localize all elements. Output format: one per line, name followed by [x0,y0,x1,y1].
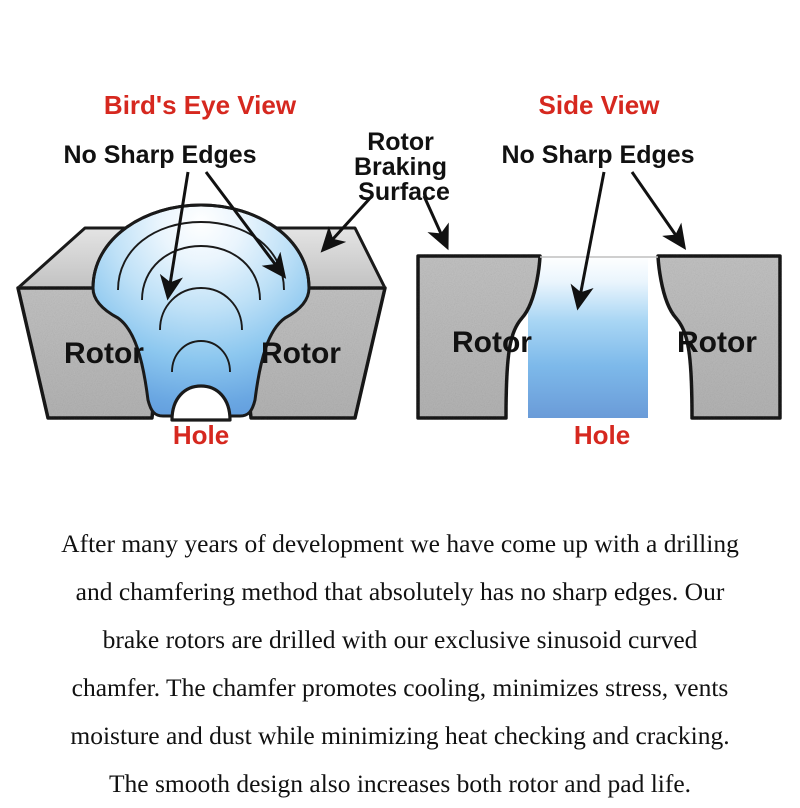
rbs-line-2: Braking [354,153,447,181]
no-sharp-edges-label-right: No Sharp Edges [501,141,694,169]
description-line-4: chamfer. The chamfer promotes cooling, m… [8,664,792,712]
side-view-title: Side View [539,90,661,120]
rotor-chamfer-illustration: Bird's Eye View No Sharp Edges Rotor Bra… [0,0,800,480]
rotor-braking-surface-label: Rotor Braking Surface [354,128,454,206]
description-paragraph: After many years of development we have … [0,520,800,808]
rotor-label-right-right: Rotor [677,326,757,359]
description-line-3: brake rotors are drilled with our exclus… [8,616,792,664]
rotor-label-left-far: Rotor [261,337,341,370]
hole-label-left: Hole [173,420,229,450]
bird-eye-view-group: Bird's Eye View No Sharp Edges Rotor Bra… [18,90,454,450]
rbs-line-1: Rotor [367,128,434,156]
rbs-line-3: Surface [358,178,450,206]
description-line-2: and chamfering method that absolutely ha… [8,568,792,616]
diagram-page: Bird's Eye View No Sharp Edges Rotor Bra… [0,0,800,800]
no-sharp-edges-label-left: No Sharp Edges [63,141,256,169]
rotor-label-right-left: Rotor [452,326,532,359]
description-line-5: moisture and dust while minimizing heat … [8,712,792,760]
description-line-6: The smooth design also increases both ro… [8,760,792,808]
rotor-label-left-near: Rotor [64,337,144,370]
arrow-no-sharp-edges-right-outer [632,172,684,247]
hole-label-right: Hole [574,420,630,450]
bird-eye-view-title: Bird's Eye View [104,90,297,120]
description-line-1: After many years of development we have … [8,520,792,568]
side-hole-gap [528,256,648,418]
side-view-group: Side View No Sharp Edges Rotor Rotor Hol… [418,90,780,450]
